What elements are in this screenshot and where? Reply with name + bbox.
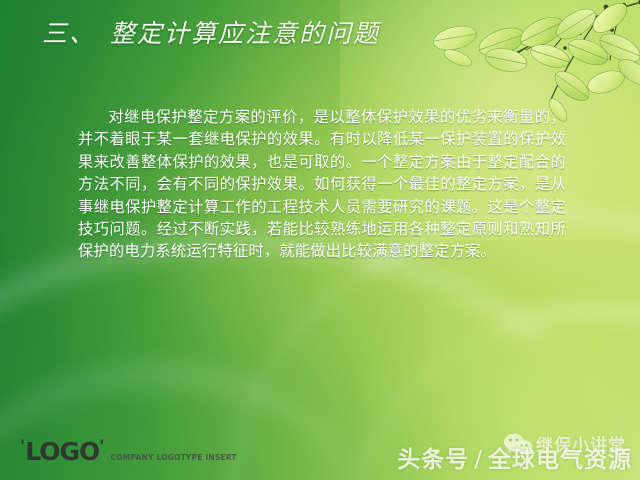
slide-title-index: 三、 bbox=[42, 21, 96, 48]
logo-quote-right: ' bbox=[99, 437, 104, 457]
watermark-separator: / bbox=[474, 447, 483, 473]
slide-title: 三、整定计算应注意的问题 bbox=[42, 14, 380, 50]
slide-body-paragraph: 对继电保护整定方案的评价，是以整体保护效果的优劣来衡量的，并不着眼于某一套继电保… bbox=[78, 107, 566, 264]
slide-title-heading: 整定计算应注意的问题 bbox=[110, 21, 380, 48]
toutiao-label: 头条号 bbox=[397, 447, 469, 473]
toutiao-account-name: 全球电气资源 bbox=[488, 447, 632, 473]
logo-subtitle: COMPANY LOGOTYPE INSERT bbox=[111, 453, 237, 462]
company-logo: 'LOGO' COMPANY LOGOTYPE INSERT bbox=[20, 439, 237, 464]
logo-word: LOGO bbox=[25, 437, 99, 466]
presentation-slide: 三、整定计算应注意的问题 对继电保护整定方案的评价，是以整体保护效果的优劣来衡量… bbox=[0, 0, 640, 480]
slide-title-bar: 三、整定计算应注意的问题 bbox=[0, 8, 640, 56]
logo-wordmark: 'LOGO' bbox=[20, 439, 105, 464]
toutiao-watermark: 头条号/全球电气资源 bbox=[397, 440, 632, 474]
